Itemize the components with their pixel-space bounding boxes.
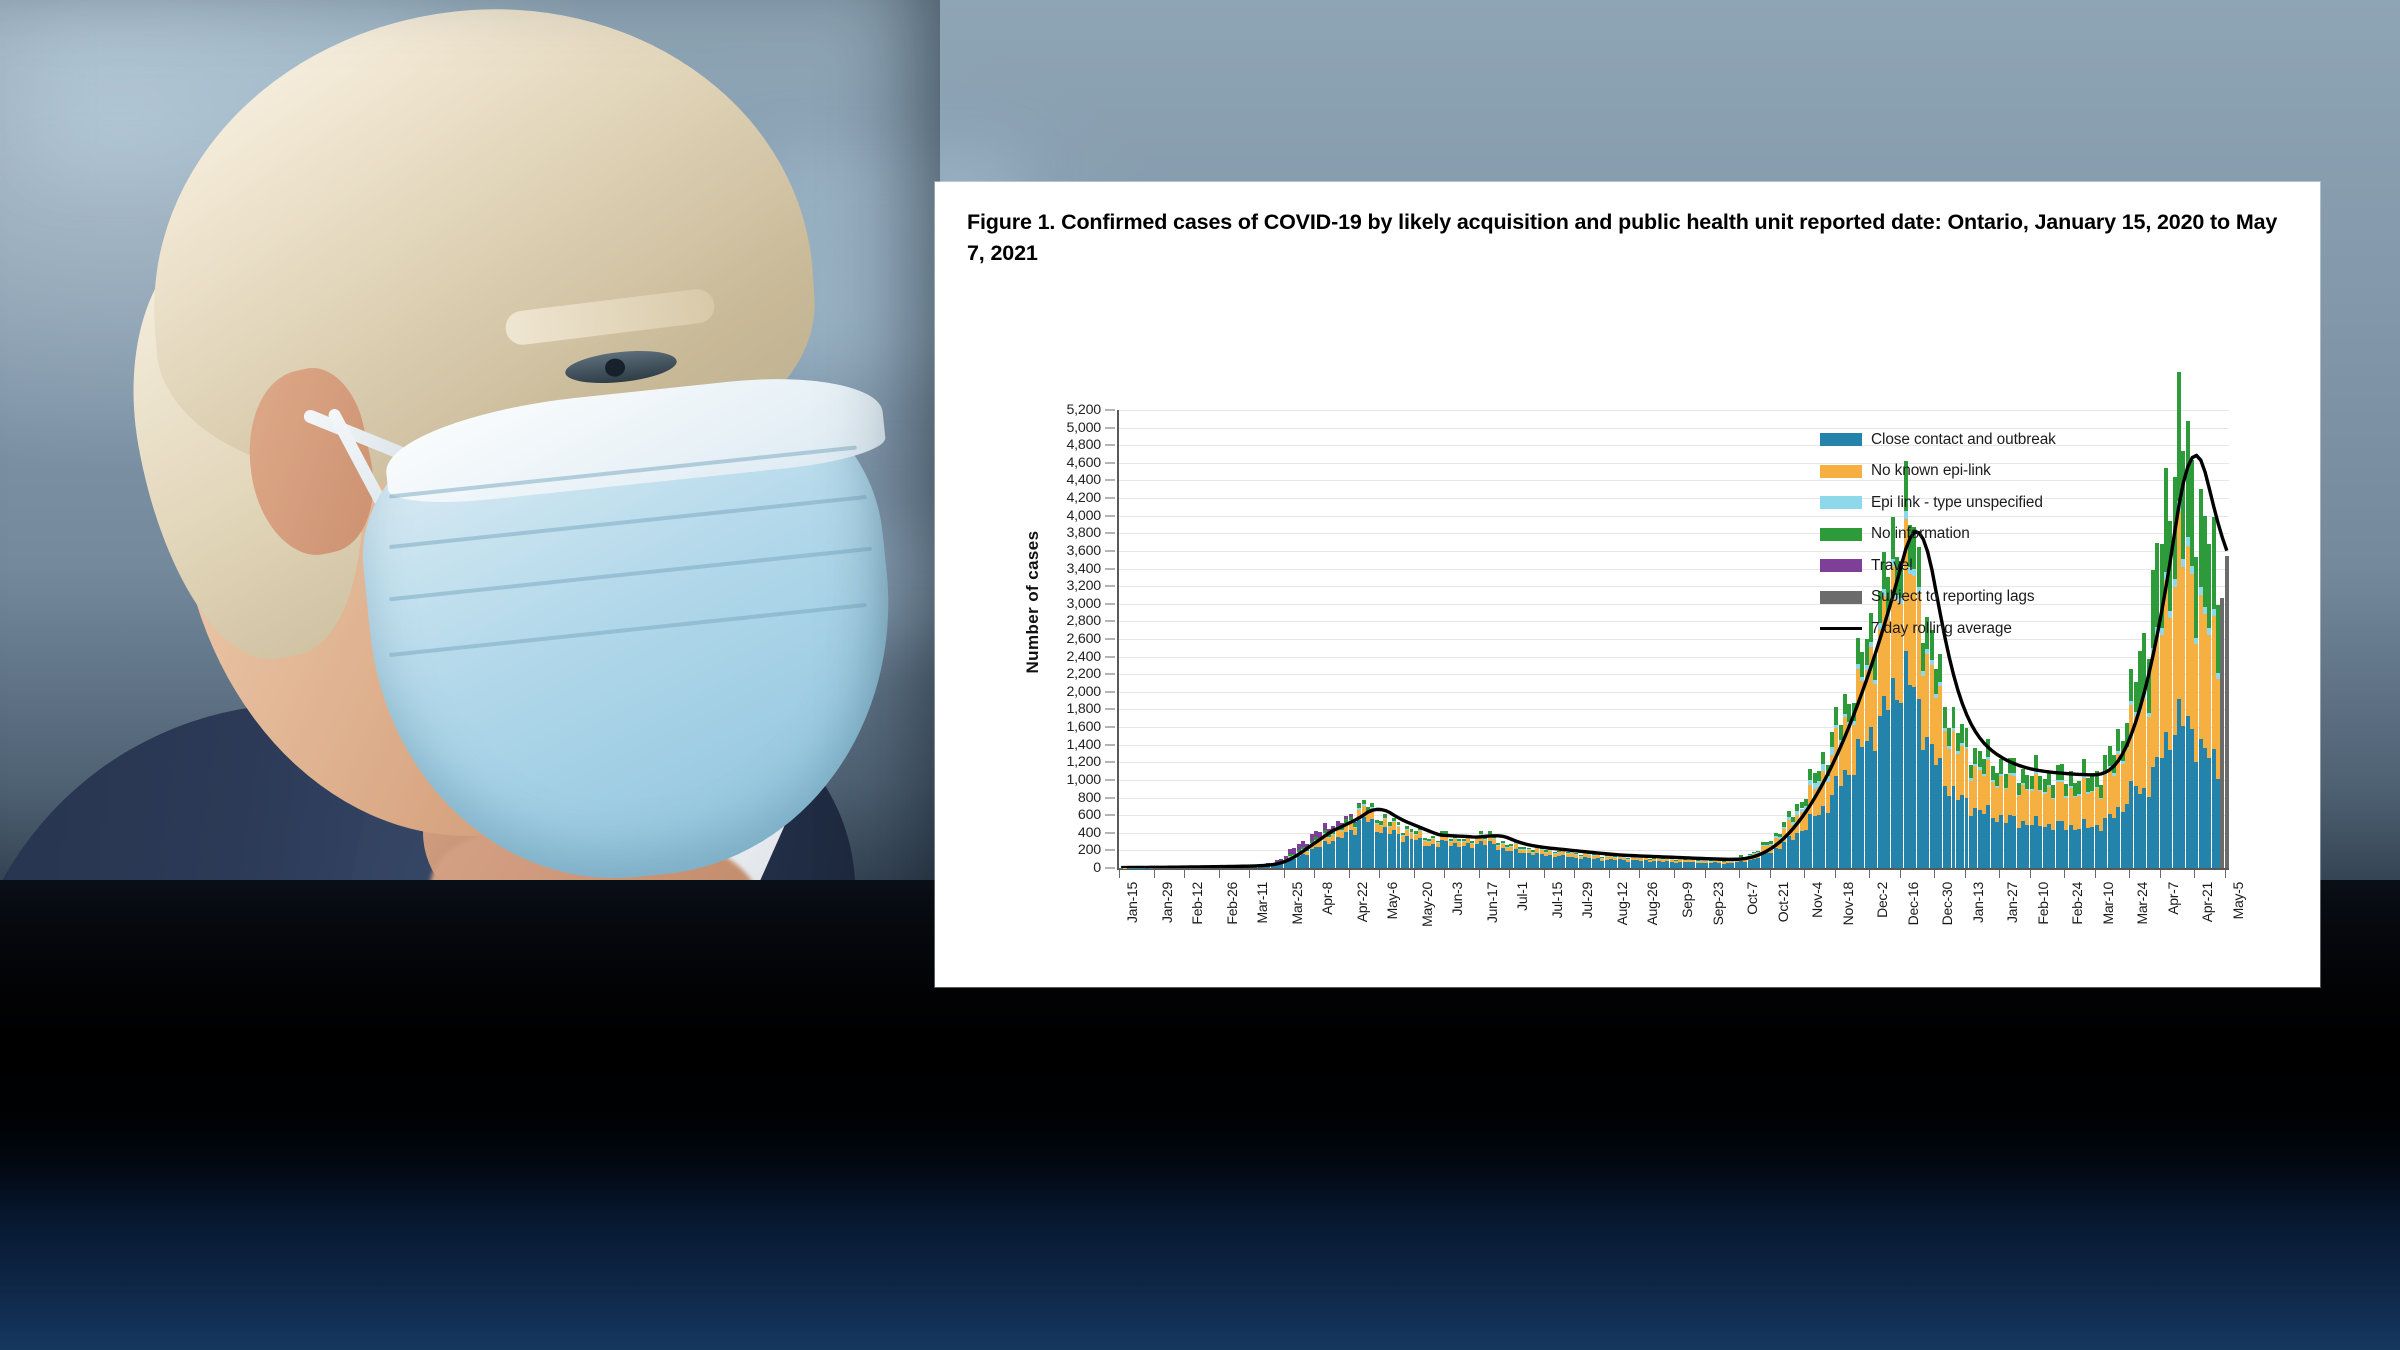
legend-label: 7 day rolling average <box>1871 620 2012 638</box>
x-axis-tick-label: Oct-7 <box>1744 882 1760 915</box>
y-axis-tick-mark <box>1105 674 1115 675</box>
legend-swatch-icon <box>1820 559 1862 572</box>
chart-legend: Close contact and outbreakNo known epi-l… <box>1820 424 2150 645</box>
y-axis-tick-label: 2,800 <box>1066 613 1101 629</box>
x-axis-tick-label: Jul-29 <box>1579 882 1595 918</box>
x-axis-tick-label: Feb-12 <box>1189 882 1205 925</box>
x-axis-tick-mark <box>2064 870 2065 878</box>
x-axis-tick-label: Jan-29 <box>1159 882 1175 923</box>
x-axis-tick-mark <box>1544 870 1545 878</box>
y-axis-tick-mark <box>1105 815 1115 816</box>
legend-item[interactable]: Subject to reporting lags <box>1820 582 2150 614</box>
x-axis-tick-label: Jun-3 <box>1449 882 1465 916</box>
legend-label: No known epi-link <box>1871 462 1991 480</box>
x-axis-tick-mark <box>1609 870 1610 878</box>
y-axis-tick-mark <box>1105 462 1115 463</box>
x-axis-tick-mark <box>2095 870 2096 878</box>
y-axis-tick-label: 1,400 <box>1066 737 1101 753</box>
legend-label: Close contact and outbreak <box>1871 431 2056 449</box>
covid-cases-chart: Number of cases 5,2005,0004,8004,6004,40… <box>935 302 2320 987</box>
y-axis-tick-label: 3,600 <box>1066 543 1101 559</box>
y-axis-tick-mark <box>1105 498 1115 499</box>
x-axis-tick-label: Aug-12 <box>1614 882 1630 925</box>
legend-label: No information <box>1871 525 1970 543</box>
x-axis-tick-mark <box>1965 870 1966 878</box>
x-axis-tick-label: Dec-16 <box>1905 882 1921 925</box>
x-axis-tick-label: Apr-7 <box>2165 882 2181 915</box>
x-axis-tick-label: Sep-23 <box>1710 882 1726 925</box>
y-axis-tick-label: 4,800 <box>1066 437 1101 453</box>
x-axis-tick-mark <box>1804 870 1805 878</box>
y-axis-tick-mark <box>1105 779 1115 780</box>
x-axis-tick-label: Feb-26 <box>1224 882 1240 925</box>
y-axis-tick-label: 4,400 <box>1066 472 1101 488</box>
y-axis-tick-label: 400 <box>1078 825 1101 841</box>
x-axis-tick-label: Jan-13 <box>1970 882 1986 923</box>
y-axis-tick-label: 3,400 <box>1066 561 1101 577</box>
y-axis-tick-mark <box>1105 586 1115 587</box>
x-axis-tick-label: Jun-17 <box>1484 882 1500 923</box>
x-axis-tick-label: Jan-27 <box>2004 882 2020 923</box>
y-axis-tick-mark <box>1105 410 1115 411</box>
y-axis-tick-mark <box>1105 568 1115 569</box>
x-axis-tick-label: Mar-25 <box>1289 882 1305 925</box>
x-axis-tick-mark <box>1349 870 1350 878</box>
y-axis-tick-label: 4,600 <box>1066 455 1101 471</box>
x-axis-tick-mark <box>1674 870 1675 878</box>
y-axis-tick-label: 3,000 <box>1066 596 1101 612</box>
y-axis-tick-label: 2,000 <box>1066 684 1101 700</box>
y-axis-tick-label: 4,000 <box>1066 508 1101 524</box>
x-axis-tick-mark <box>1119 870 1120 878</box>
y-axis-tick-label: 0 <box>1093 860 1101 876</box>
y-axis-tick-mark <box>1105 515 1115 516</box>
y-axis-tick-mark <box>1105 427 1115 428</box>
legend-label: Subject to reporting lags <box>1871 588 2034 606</box>
x-axis-tick-mark <box>1639 870 1640 878</box>
legend-swatch-icon <box>1820 591 1862 604</box>
x-axis-tick-label: Mar-24 <box>2134 882 2150 925</box>
legend-label: Travel <box>1871 557 1913 575</box>
x-axis-tick-mark <box>1444 870 1445 878</box>
legend-swatch-icon <box>1820 465 1862 478</box>
x-axis-tick-label: Nov-4 <box>1809 882 1825 918</box>
y-axis-tick-mark <box>1105 639 1115 640</box>
figure-title: Figure 1. Confirmed cases of COVID-19 by… <box>967 207 2287 268</box>
figure-panel: Figure 1. Confirmed cases of COVID-19 by… <box>935 182 2320 987</box>
x-axis-tick-mark <box>1184 870 1185 878</box>
screenshot-stage: Figure 1. Confirmed cases of COVID-19 by… <box>0 0 2400 1350</box>
x-axis-tick-mark <box>1219 870 1220 878</box>
y-axis-tick-label: 1,800 <box>1066 701 1101 717</box>
legend-label: Epi link - type unspecified <box>1871 494 2043 512</box>
y-axis-tick-label: 1,200 <box>1066 754 1101 770</box>
x-axis-tick-mark <box>2030 870 2031 878</box>
x-axis-tick-label: Dec-2 <box>1874 882 1890 918</box>
x-axis-tick-mark <box>1414 870 1415 878</box>
x-axis-tick-mark <box>1479 870 1480 878</box>
x-axis-tick-mark <box>1770 870 1771 878</box>
x-axis-tick-mark <box>1284 870 1285 878</box>
x-axis-tick-label: Jul-15 <box>1549 882 1565 918</box>
x-axis-tick-mark <box>1574 870 1575 878</box>
y-axis-tick-mark <box>1105 621 1115 622</box>
y-axis-tick-mark <box>1105 797 1115 798</box>
y-axis-tick-label: 2,400 <box>1066 649 1101 665</box>
y-axis-tick-label: 3,200 <box>1066 578 1101 594</box>
x-axis-tick-mark <box>1154 870 1155 878</box>
legend-swatch-icon <box>1820 496 1862 509</box>
x-axis-tick-label: Oct-21 <box>1775 882 1791 922</box>
x-axis-tick-mark <box>2194 870 2195 878</box>
x-axis-tick-label: Apr-22 <box>1354 882 1370 922</box>
y-axis-tick-mark <box>1105 868 1115 869</box>
x-axis-tick-label: Apr-8 <box>1319 882 1335 915</box>
y-axis-tick-mark <box>1105 691 1115 692</box>
y-axis-tick-mark <box>1105 832 1115 833</box>
y-axis-tick-label: 800 <box>1078 790 1101 806</box>
y-axis-tick-label: 3,800 <box>1066 525 1101 541</box>
x-axis-tick-label: May-5 <box>2230 882 2246 919</box>
x-axis-tick-mark <box>1739 870 1740 878</box>
y-axis-tick-mark <box>1105 727 1115 728</box>
y-axis-tick-mark <box>1105 480 1115 481</box>
x-axis-tick-mark <box>2129 870 2130 878</box>
y-axis-tick-label: 2,200 <box>1066 666 1101 682</box>
y-axis-tick-mark <box>1105 603 1115 604</box>
x-axis-tick-label: May-20 <box>1419 882 1435 927</box>
legend-swatch-icon <box>1820 528 1862 541</box>
x-axis-tick-label: Aug-26 <box>1644 882 1660 925</box>
legend-item[interactable]: Travel <box>1820 550 2150 582</box>
x-axis-tick-label: Sep-9 <box>1679 882 1695 918</box>
x-axis-tick-mark <box>2225 870 2226 878</box>
y-axis-tick-mark <box>1105 744 1115 745</box>
x-axis-tick-mark <box>2160 870 2161 878</box>
x-axis-tick-label: Nov-18 <box>1840 882 1856 925</box>
x-axis-tick-label: Mar-10 <box>2100 882 2116 925</box>
x-axis-tick-label: Jan-15 <box>1124 882 1140 923</box>
y-axis-tick-mark <box>1105 550 1115 551</box>
y-axis-tick-label: 5,200 <box>1066 402 1101 418</box>
x-axis-tick-mark <box>1379 870 1380 878</box>
x-axis-tick-mark <box>1999 870 2000 878</box>
x-axis-tick-label: Apr-21 <box>2199 882 2215 922</box>
y-axis-ticks: 5,2005,0004,8004,6004,4004,2004,0003,800… <box>935 302 1117 760</box>
x-axis-tick-mark <box>1835 870 1836 878</box>
legend-item[interactable]: Epi link - type unspecified <box>1820 487 2150 519</box>
y-axis-tick-label: 4,200 <box>1066 490 1101 506</box>
y-axis-tick-mark <box>1105 656 1115 657</box>
legend-item[interactable]: No information <box>1820 519 2150 551</box>
x-axis-tick-label: Dec-30 <box>1939 882 1955 925</box>
legend-swatch-icon <box>1820 433 1862 446</box>
x-axis-tick-mark <box>1869 870 1870 878</box>
x-axis-tick-label: May-6 <box>1384 882 1400 919</box>
y-axis-tick-mark <box>1105 709 1115 710</box>
x-axis-tick-label: Jul-1 <box>1514 882 1530 911</box>
y-axis-tick-mark <box>1105 850 1115 851</box>
x-axis-tick-mark <box>1314 870 1315 878</box>
x-axis-tick-mark <box>1934 870 1935 878</box>
x-axis-tick-mark <box>1900 870 1901 878</box>
legend-item[interactable]: No known epi-link <box>1820 456 2150 488</box>
y-axis-tick-mark <box>1105 445 1115 446</box>
x-axis-tick-mark <box>1249 870 1250 878</box>
legend-line-icon <box>1820 627 1862 630</box>
x-axis-tick-mark <box>1509 870 1510 878</box>
y-axis-tick-mark <box>1105 762 1115 763</box>
y-axis-tick-label: 2,600 <box>1066 631 1101 647</box>
x-axis-tick-label: Feb-24 <box>2069 882 2085 925</box>
x-axis-tick-mark <box>1705 870 1706 878</box>
y-axis-tick-label: 1,000 <box>1066 772 1101 788</box>
legend-item[interactable]: 7 day rolling average <box>1820 613 2150 645</box>
x-axis-tick-label: Mar-11 <box>1254 882 1270 924</box>
y-axis-tick-label: 600 <box>1078 807 1101 823</box>
y-axis-tick-label: 5,000 <box>1066 420 1101 436</box>
y-axis-tick-label: 1,600 <box>1066 719 1101 735</box>
y-axis-tick-label: 200 <box>1078 842 1101 858</box>
x-axis-tick-label: Feb-10 <box>2035 882 2051 925</box>
legend-item[interactable]: Close contact and outbreak <box>1820 424 2150 456</box>
y-axis-tick-mark <box>1105 533 1115 534</box>
